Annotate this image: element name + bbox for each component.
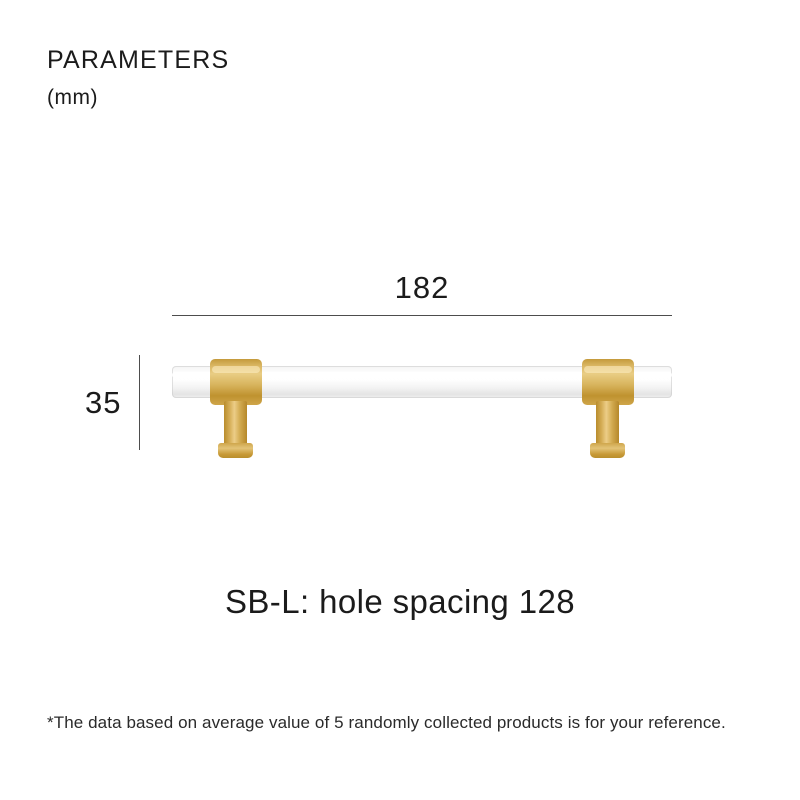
left-foot	[218, 443, 253, 458]
width-dimension-line	[172, 315, 672, 316]
right-collar	[582, 359, 634, 405]
height-dimension: 35	[85, 355, 140, 450]
right-foot	[590, 443, 625, 458]
height-value: 35	[85, 387, 121, 418]
unit-label: (mm)	[47, 87, 229, 108]
right-stem	[596, 401, 619, 445]
left-post	[210, 355, 262, 459]
height-dimension-line	[139, 355, 140, 450]
right-post	[582, 355, 634, 459]
width-dimension: 182	[172, 272, 672, 316]
footnote-text: *The data based on average value of 5 ra…	[47, 713, 767, 733]
model-caption: SB-L: hole spacing 128	[0, 583, 800, 621]
product-illustration	[172, 355, 672, 465]
left-collar	[210, 359, 262, 405]
left-stem	[224, 401, 247, 445]
page-title: PARAMETERS	[47, 48, 229, 73]
width-value: 182	[172, 272, 672, 303]
parameters-header: PARAMETERS (mm)	[47, 48, 229, 108]
